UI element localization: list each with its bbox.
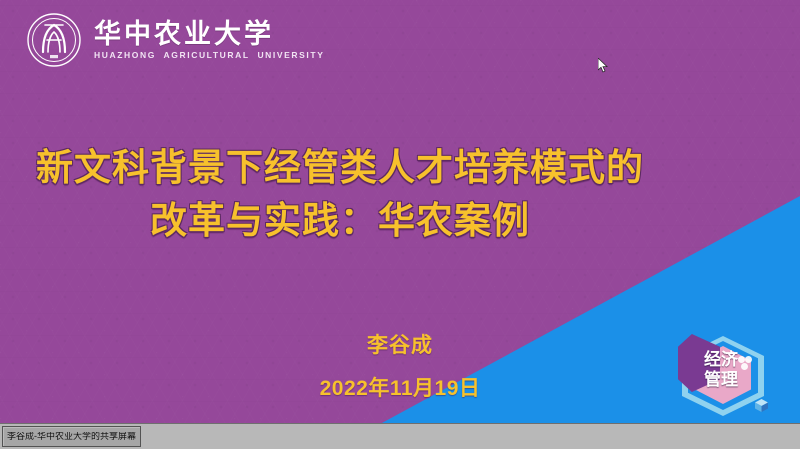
mouse-pointer-icon — [598, 58, 608, 73]
taskbar-item-shared-screen[interactable]: 李谷成-华中农业大学的共享屏幕 — [2, 426, 141, 447]
cube-icon — [754, 398, 769, 413]
university-seal-icon — [26, 12, 82, 68]
university-wordmark: 华中农业大学 HUAZHONG AGRICULTURAL UNIVERSITY — [94, 21, 324, 60]
university-name-en: HUAZHONG AGRICULTURAL UNIVERSITY — [94, 50, 324, 60]
presentation-slide: 华中农业大学 HUAZHONG AGRICULTURAL UNIVERSITY … — [0, 0, 800, 424]
shared-screen-frame: 华中农业大学 HUAZHONG AGRICULTURAL UNIVERSITY … — [0, 0, 800, 449]
dots-icon — [738, 356, 752, 374]
title-line-2: 改革与实践：华农案例 — [0, 195, 680, 248]
title-line-1: 新文科背景下经管类人才培养模式的 — [0, 142, 680, 195]
university-logo: 华中农业大学 HUAZHONG AGRICULTURAL UNIVERSITY — [26, 12, 324, 68]
school-badge: 经济 管理 — [678, 334, 774, 424]
taskbar: 李谷成-华中农业大学的共享屏幕 — [0, 423, 800, 449]
page-title: 新文科背景下经管类人才培养模式的 改革与实践：华农案例 — [0, 142, 680, 247]
taskbar-item-label: 李谷成-华中农业大学的共享屏幕 — [7, 432, 136, 441]
university-name-cn: 华中农业大学 — [94, 21, 324, 48]
